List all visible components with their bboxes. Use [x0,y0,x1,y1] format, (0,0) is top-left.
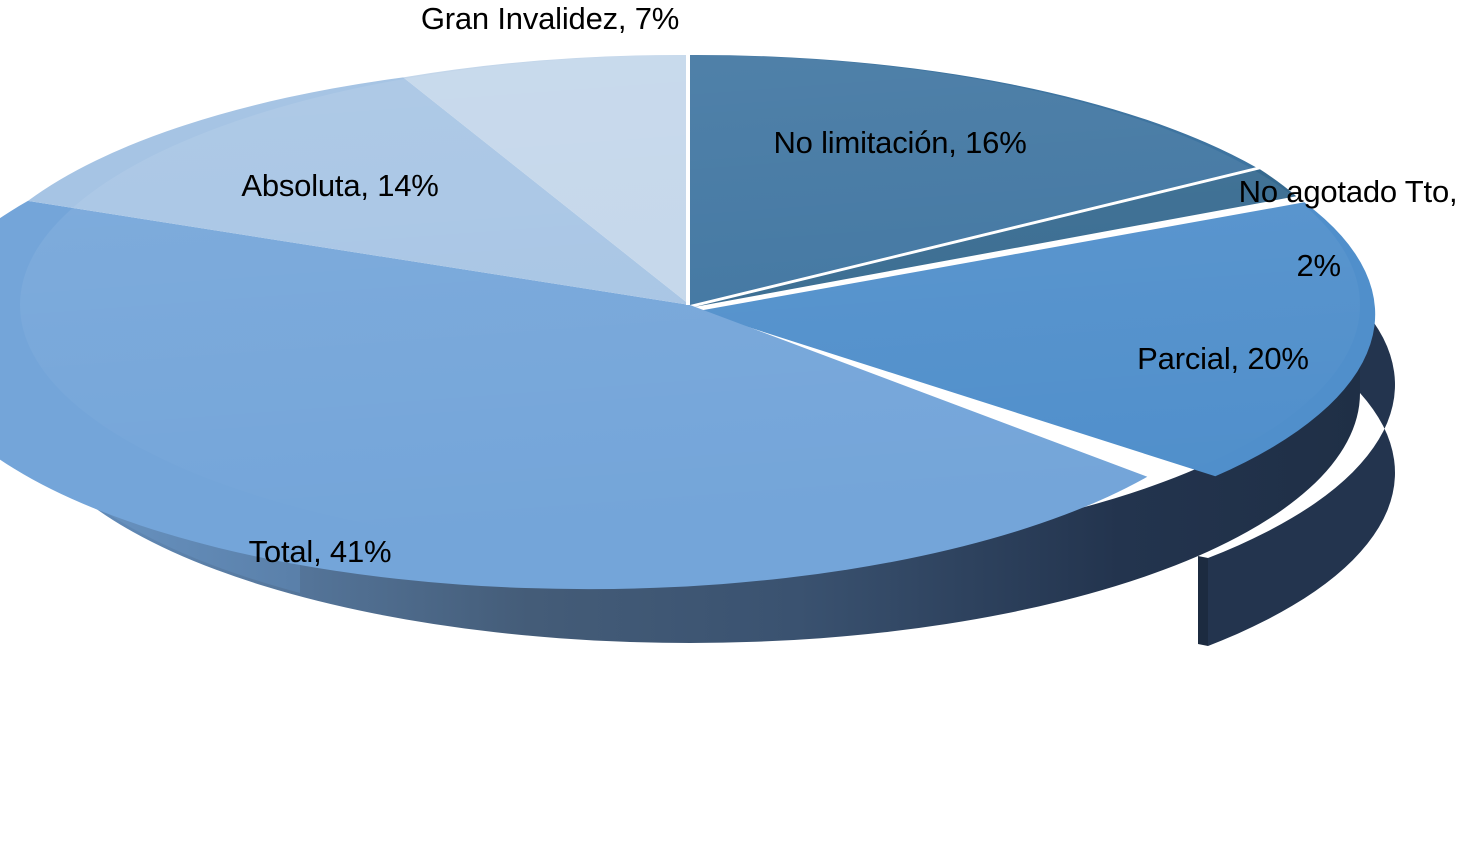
pie-label-gran-invalidez: Gran Invalidez, 7% [360,0,740,37]
pie-label-no-agotado-tto-line1: No agotado Tto, [1239,174,1458,209]
pie-label-total: Total, 41% [155,533,485,570]
pie-top-sheen [20,55,1360,555]
pie-label-no-agotado-tto: No agotado Tto, 2% [1205,136,1470,321]
pie-label-parcial: Parcial, 20% [1078,340,1368,377]
pie-rim-parcial-face [1198,556,1208,646]
pie-chart-figure: Gran Invalidez, 7% No limitación, 16% No… [0,0,1470,866]
pie-label-absoluta: Absoluta, 14% [175,167,505,204]
pie-label-no-agotado-tto-line2: 2% [1239,247,1399,284]
pie-label-no-limitacion: No limitación, 16% [735,124,1065,161]
